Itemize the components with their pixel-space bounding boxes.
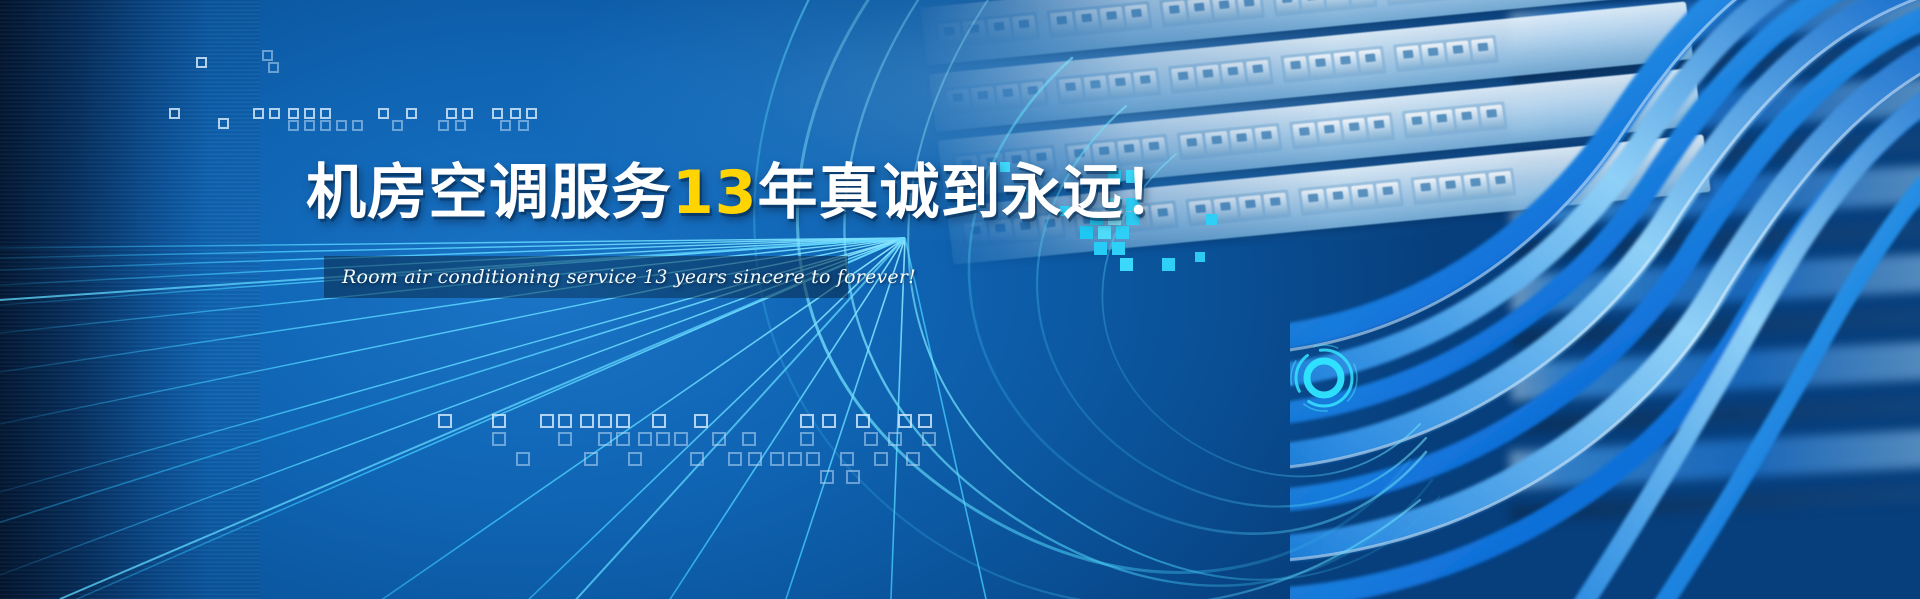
tech-ring-icon	[1287, 341, 1361, 415]
headline-part2: 年真诚到永远！	[758, 158, 1185, 228]
page-title: 机房空调服务13年真诚到永远！	[306, 163, 1185, 223]
perspective-grid	[0, 0, 1100, 599]
headline-part1: 机房空调服务	[306, 158, 672, 228]
ethernet-cables	[1290, 0, 1920, 599]
subtitle: Room air conditioning service 13 years s…	[342, 262, 842, 292]
headline-years-number: 13	[672, 158, 758, 228]
hero-banner: 机房空调服务13年真诚到永远！ Room air conditioning se…	[0, 0, 1920, 599]
